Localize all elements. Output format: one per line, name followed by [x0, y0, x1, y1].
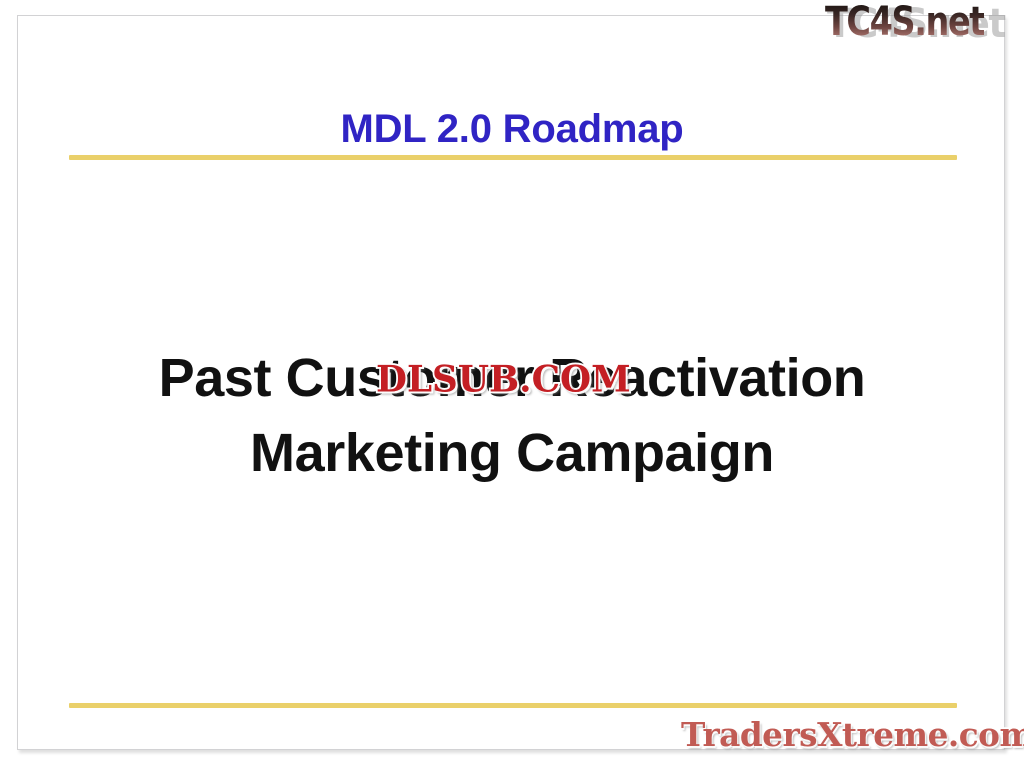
- watermark-tc4s: TC4S.net: [825, 2, 984, 42]
- divider-top: [69, 155, 957, 160]
- watermark-tradersxtreme: TradersXtreme.com: [681, 718, 1024, 751]
- page-title: MDL 2.0 Roadmap: [18, 106, 1006, 152]
- body-line-2: Marketing Campaign: [62, 416, 962, 491]
- divider-bottom: [69, 703, 957, 708]
- watermark-dlsub: DLSUB.COM: [376, 361, 631, 398]
